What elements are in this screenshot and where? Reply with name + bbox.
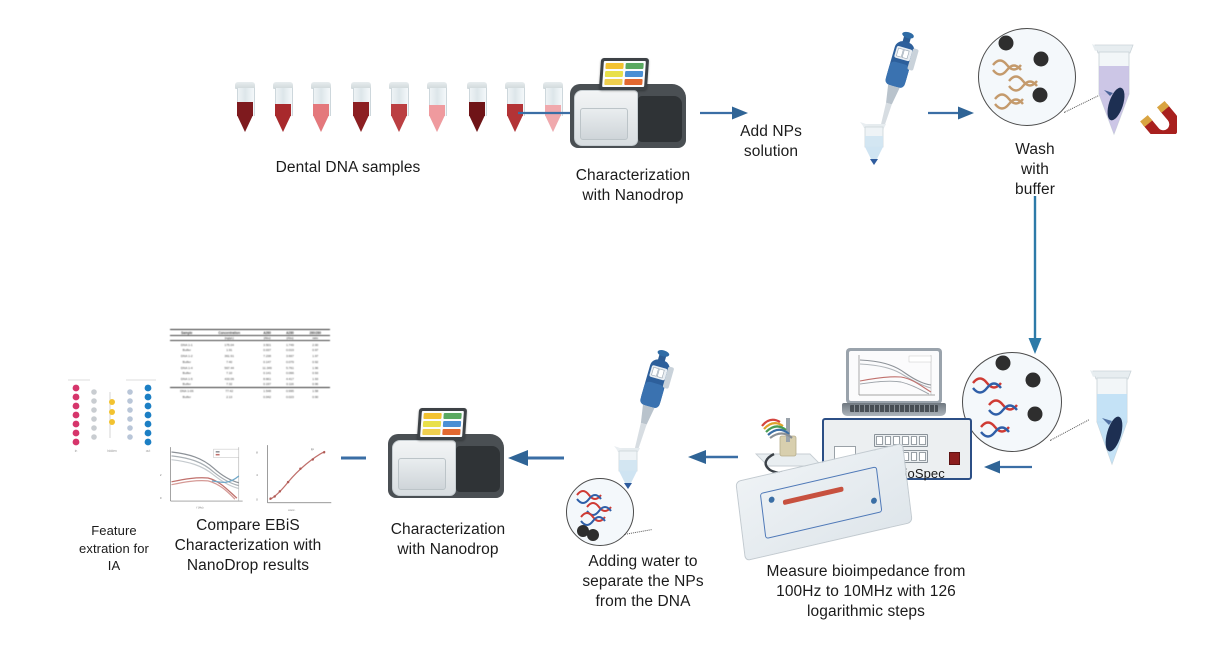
arrow-addwater-to-nanodrop bbox=[506, 449, 564, 467]
svg-text:out: out bbox=[146, 449, 151, 453]
step-label-nanodrop-2: Characterization with Nanodrop bbox=[368, 520, 528, 560]
laptop-impedance-display bbox=[842, 348, 946, 422]
sample-tube bbox=[272, 82, 294, 134]
micropipette-1 bbox=[846, 30, 936, 170]
arrow-nanodrop-to-addnps bbox=[700, 105, 750, 121]
sample-tube bbox=[234, 82, 256, 134]
electrode-holder-assembly bbox=[750, 410, 808, 462]
inset-dna-bound-to-nanoparticles bbox=[962, 352, 1062, 452]
step-label-add-nps: Add NPs solution bbox=[716, 122, 826, 162]
svg-text:0: 0 bbox=[160, 496, 162, 500]
table-row: DNA 1-1 175.04 3.501 1.749 2.00 bbox=[170, 341, 330, 348]
sample-tube bbox=[426, 82, 448, 134]
nanodrop-results-table: Sample Concentration A260 A280 260/280 (… bbox=[166, 326, 334, 434]
step-label-features: Feature extration for IA bbox=[46, 522, 182, 575]
sample-tube bbox=[310, 82, 332, 134]
nanodrop-instrument-1 bbox=[570, 58, 686, 150]
nanodrop-instrument-2 bbox=[388, 408, 504, 500]
svg-text:in: in bbox=[75, 449, 78, 453]
eppendorf-tube-bound bbox=[1090, 368, 1138, 478]
svg-text:2: 2 bbox=[160, 473, 162, 477]
eis-comparison-charts: 420 f (Hz) 840 conc. R² bbox=[155, 438, 341, 516]
step-label-measure: Measure bioimpedance from 100Hz to 10MHz… bbox=[706, 562, 1026, 621]
step-label-wash: Wash with buffer bbox=[990, 140, 1080, 199]
sample-tube bbox=[466, 82, 488, 134]
nanodrop-touchscreen bbox=[599, 58, 649, 90]
table-row: Buffer 2.13 0.042 0.023 0.90 bbox=[170, 394, 330, 399]
arrow-sciospec-to-addwater bbox=[686, 449, 738, 465]
sample-tube bbox=[350, 82, 372, 134]
impedance-spectrum-chart bbox=[849, 351, 939, 401]
step-label-nanodrop-1: Characterization with Nanodrop bbox=[548, 166, 718, 206]
arrow-bound-to-sciospec bbox=[982, 459, 1032, 475]
arrow-wash-to-measure bbox=[1026, 196, 1044, 356]
arrow-addnps-to-wash bbox=[928, 105, 976, 121]
svg-text:4: 4 bbox=[256, 473, 258, 477]
results-table: Sample Concentration A260 A280 260/280 (… bbox=[170, 329, 330, 399]
impedance-spectrum-chart: 420 f (Hz) bbox=[158, 441, 247, 513]
micropipette-2 bbox=[600, 348, 690, 498]
svg-text:conc.: conc. bbox=[288, 508, 296, 512]
table-row: DNA 1-06 77.42 1.548 0.995 1.58 bbox=[170, 387, 330, 394]
workflow-diagram: Dental DNA samples Characterization with… bbox=[0, 0, 1210, 661]
inset-dna-separated-from-nanoparticles bbox=[566, 478, 634, 546]
step-label-samples: Dental DNA samples bbox=[228, 158, 468, 178]
inset-dna-nanoparticles-unbound bbox=[978, 28, 1076, 126]
svg-text:f (Hz): f (Hz) bbox=[196, 506, 203, 510]
svg-text:R²: R² bbox=[310, 447, 313, 451]
magnet-icon bbox=[1129, 92, 1177, 139]
step-label-add-water: Adding water to separate the NPs from th… bbox=[548, 552, 738, 611]
nanodrop-touchscreen bbox=[417, 408, 467, 440]
neural-network-diagram: inhiddenout bbox=[62, 372, 166, 456]
svg-text:hidden: hidden bbox=[107, 449, 117, 453]
power-led-indicator bbox=[949, 452, 960, 465]
sample-tube bbox=[388, 82, 410, 134]
svg-text:8: 8 bbox=[256, 450, 258, 454]
svg-text:0: 0 bbox=[256, 498, 258, 502]
impedance-vs-concentration-chart: 840 conc. R² bbox=[250, 441, 339, 513]
